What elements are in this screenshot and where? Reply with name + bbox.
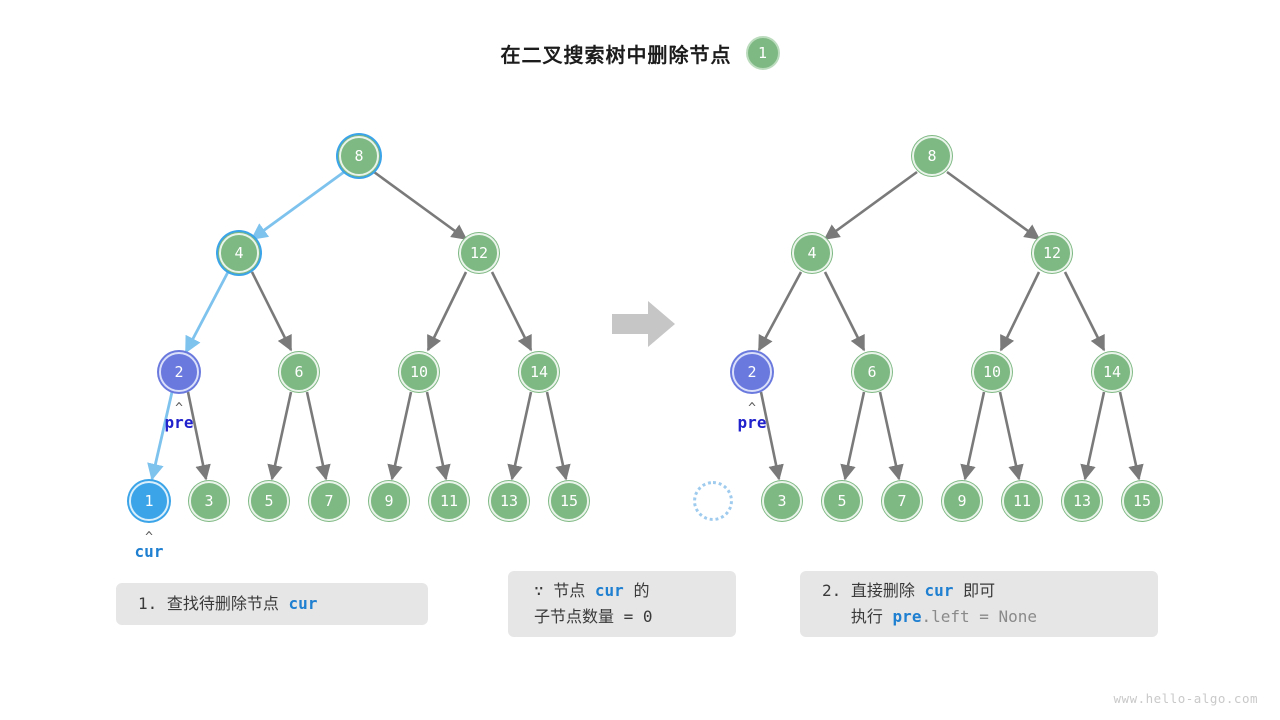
caption-keyword-pre: pre bbox=[893, 607, 922, 626]
node-value: 4 bbox=[234, 244, 243, 262]
tree-node[interactable]: 6 bbox=[852, 352, 892, 392]
tree-node[interactable]: 12 bbox=[1032, 233, 1072, 273]
caption-text: 1. 查找待删除节点 bbox=[138, 594, 289, 613]
node-value: 5 bbox=[264, 492, 273, 510]
node-value: 14 bbox=[530, 363, 548, 381]
tree-node[interactable]: 14 bbox=[519, 352, 559, 392]
node-value: 13 bbox=[500, 492, 518, 510]
tree-node-pre[interactable]: 2 bbox=[732, 352, 772, 392]
tree-node[interactable]: 8 bbox=[339, 136, 379, 176]
pointer-label-cur: ^ cur bbox=[135, 532, 164, 561]
tree-node[interactable]: 7 bbox=[309, 481, 349, 521]
node-value: 8 bbox=[927, 147, 936, 165]
tree-node[interactable]: 4 bbox=[219, 233, 259, 273]
tree-node[interactable]: 5 bbox=[822, 481, 862, 521]
node-value: 9 bbox=[384, 492, 393, 510]
node-value: 12 bbox=[1043, 244, 1061, 262]
caption-text: 的 bbox=[624, 581, 650, 600]
pointer-text: pre bbox=[738, 414, 767, 432]
node-value: 3 bbox=[777, 492, 786, 510]
diagram-canvas: 在二叉搜索树中删除节点 1 bbox=[0, 0, 1280, 720]
tree-node[interactable]: 13 bbox=[1062, 481, 1102, 521]
tree-node[interactable]: 15 bbox=[549, 481, 589, 521]
tree-node[interactable]: 11 bbox=[1002, 481, 1042, 521]
node-value: 3 bbox=[204, 492, 213, 510]
tree-node[interactable]: 12 bbox=[459, 233, 499, 273]
deleted-node-placeholder bbox=[693, 481, 733, 521]
node-value: 9 bbox=[957, 492, 966, 510]
node-value: 2 bbox=[174, 363, 183, 381]
caption-step2: 2. 直接删除 cur 即可 执行 pre.left = None bbox=[800, 571, 1158, 637]
node-value: 4 bbox=[807, 244, 816, 262]
tree-node-cur[interactable]: 1 bbox=[129, 481, 169, 521]
tree-node[interactable]: 15 bbox=[1122, 481, 1162, 521]
pointer-label-pre: ^ pre bbox=[165, 403, 194, 432]
right-tree-edge-group bbox=[759, 172, 1139, 479]
tree-node[interactable]: 13 bbox=[489, 481, 529, 521]
node-value: 11 bbox=[1013, 492, 1031, 510]
caption-line: 执行 pre.left = None bbox=[822, 604, 1158, 630]
pointer-label-pre: ^ pre bbox=[738, 403, 767, 432]
node-value: 10 bbox=[410, 363, 428, 381]
tree-node[interactable]: 3 bbox=[189, 481, 229, 521]
node-value: 5 bbox=[837, 492, 846, 510]
caption-line: 1. 查找待删除节点 cur bbox=[138, 591, 428, 617]
node-value: 7 bbox=[897, 492, 906, 510]
caption-line: ∵ 节点 cur 的 bbox=[534, 578, 736, 604]
pointer-text: pre bbox=[165, 414, 194, 432]
node-value: 13 bbox=[1073, 492, 1091, 510]
node-value: 7 bbox=[324, 492, 333, 510]
pointer-text: cur bbox=[135, 543, 164, 561]
node-value: 15 bbox=[1133, 492, 1151, 510]
transition-arrow-icon bbox=[612, 299, 676, 349]
tree-node[interactable]: 3 bbox=[762, 481, 802, 521]
watermark: www.hello-algo.com bbox=[1114, 691, 1258, 706]
node-value: 2 bbox=[747, 363, 756, 381]
left-tree-edge-group bbox=[188, 172, 566, 479]
caption-code-tail: .left = None bbox=[921, 607, 1037, 626]
caption-keyword-cur: cur bbox=[925, 581, 954, 600]
node-value: 11 bbox=[440, 492, 458, 510]
tree-node[interactable]: 7 bbox=[882, 481, 922, 521]
tree-node-pre[interactable]: 2 bbox=[159, 352, 199, 392]
caption-keyword-cur: cur bbox=[595, 581, 624, 600]
tree-node[interactable]: 14 bbox=[1092, 352, 1132, 392]
caption-text: ∵ 节点 bbox=[534, 581, 595, 600]
caption-line: 2. 直接删除 cur 即可 bbox=[822, 578, 1158, 604]
node-value: 14 bbox=[1103, 363, 1121, 381]
node-value: 8 bbox=[354, 147, 363, 165]
tree-node[interactable]: 10 bbox=[972, 352, 1012, 392]
caption-text: 即可 bbox=[953, 581, 995, 600]
tree-node[interactable]: 6 bbox=[279, 352, 319, 392]
node-value: 10 bbox=[983, 363, 1001, 381]
caption-reason: ∵ 节点 cur 的 子节点数量 = 0 bbox=[508, 571, 736, 637]
tree-node[interactable]: 11 bbox=[429, 481, 469, 521]
tree-node[interactable]: 10 bbox=[399, 352, 439, 392]
node-value: 6 bbox=[294, 363, 303, 381]
caption-text: 2. 直接删除 bbox=[822, 581, 925, 600]
tree-node[interactable]: 5 bbox=[249, 481, 289, 521]
node-value: 15 bbox=[560, 492, 578, 510]
tree-node[interactable]: 9 bbox=[942, 481, 982, 521]
caption-step1: 1. 查找待删除节点 cur bbox=[116, 583, 428, 625]
caption-keyword-cur: cur bbox=[289, 594, 318, 613]
node-value: 1 bbox=[144, 492, 153, 510]
caption-text: 执行 bbox=[822, 607, 893, 626]
tree-node[interactable]: 8 bbox=[912, 136, 952, 176]
node-value: 12 bbox=[470, 244, 488, 262]
tree-node[interactable]: 9 bbox=[369, 481, 409, 521]
caption-line: 子节点数量 = 0 bbox=[534, 604, 736, 630]
tree-node[interactable]: 4 bbox=[792, 233, 832, 273]
node-value: 6 bbox=[867, 363, 876, 381]
